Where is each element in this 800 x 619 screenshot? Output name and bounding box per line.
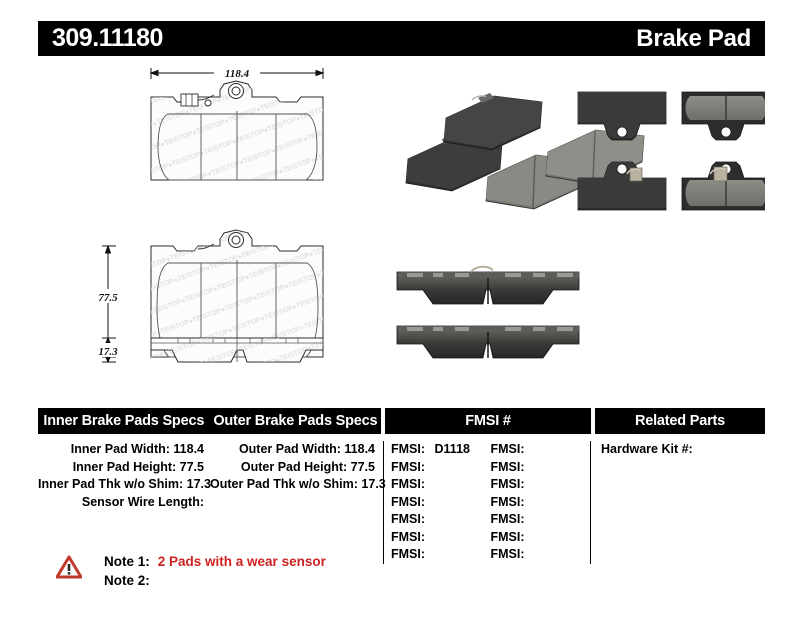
- fmsi-left-column: FMSI: D1118 FMSI: FMSI: FMSI: FMSI:: [391, 441, 491, 564]
- fmsi-row: FMSI:: [491, 476, 591, 494]
- product-photo-edge-views: [397, 267, 579, 358]
- fmsi-value: [525, 460, 531, 474]
- spec-value: 118.4: [173, 442, 204, 456]
- header-fmsi: FMSI #: [385, 408, 591, 434]
- fmsi-row: FMSI:: [391, 529, 491, 547]
- spec-label: Sensor Wire Length:: [82, 495, 204, 509]
- related-part-row: Hardware Kit #:: [601, 441, 761, 459]
- spec-row: Outer Pad Width: 118.4: [210, 441, 375, 459]
- spec-row: Inner Pad Width: 118.4: [38, 441, 204, 459]
- note-1-value: 2 Pads with a wear sensor: [150, 552, 326, 571]
- fmsi-label: FMSI:: [491, 547, 525, 561]
- spec-table-body: Inner Pad Width: 118.4 Inner Pad Height:…: [38, 441, 765, 564]
- related-parts-column: Hardware Kit #:: [590, 441, 761, 564]
- fmsi-label: FMSI:: [391, 477, 425, 491]
- note-1-label: Note 1:: [104, 552, 150, 571]
- fmsi-label: FMSI:: [391, 495, 425, 509]
- spec-row: Outer Pad Height: 77.5: [210, 459, 375, 477]
- spec-row: [210, 494, 375, 512]
- note-2-label: Note 2:: [104, 571, 150, 590]
- spec-label: Inner Pad Width:: [71, 442, 170, 456]
- header-inner-brake-pads-specs: Inner Brake Pads Specs: [38, 413, 210, 429]
- fmsi-label: FMSI:: [491, 530, 525, 544]
- part-number: 309.11180: [52, 24, 163, 53]
- fmsi-label: FMSI:: [491, 442, 525, 456]
- fmsi-value: [525, 512, 531, 526]
- spec-table-header-row: Inner Brake Pads Specs Outer Brake Pads …: [38, 408, 765, 434]
- fmsi-label: FMSI:: [491, 512, 525, 526]
- spec-row: Sensor Wire Length:: [38, 494, 204, 512]
- fmsi-value: [425, 460, 431, 474]
- fmsi-label: FMSI:: [491, 495, 525, 509]
- fmsi-row: FMSI:: [491, 546, 591, 564]
- spec-row: Outer Pad Thk w/o Shim: 17.3: [210, 476, 375, 494]
- related-part-label: Hardware Kit #:: [601, 442, 693, 456]
- fmsi-value: [525, 442, 531, 456]
- product-type: Brake Pad: [636, 25, 751, 53]
- fmsi-value: [425, 477, 431, 491]
- fmsi-label: FMSI:: [491, 477, 525, 491]
- fmsi-label: FMSI:: [391, 460, 425, 474]
- spec-row: Inner Pad Height: 77.5: [38, 459, 204, 477]
- spec-label: Outer Pad Height:: [241, 460, 347, 474]
- fmsi-value: [425, 512, 431, 526]
- fmsi-value: [525, 495, 531, 509]
- fmsi-row: FMSI:: [391, 494, 491, 512]
- svg-text:77.5: 77.5: [98, 292, 118, 304]
- fmsi-row: FMSI:: [491, 441, 591, 459]
- spec-table: Inner Brake Pads Specs Outer Brake Pads …: [38, 408, 765, 564]
- note-rows: Note 1: 2 Pads with a wear sensor Note 2…: [104, 552, 326, 590]
- fmsi-value: [525, 547, 531, 561]
- fmsi-label: FMSI:: [391, 530, 425, 544]
- fmsi-row: FMSI:: [491, 494, 591, 512]
- svg-text:17.3: 17.3: [98, 346, 118, 358]
- inner-specs-column: Inner Pad Width: 118.4 Inner Pad Height:…: [38, 441, 210, 564]
- fmsi-row: FMSI:: [391, 546, 491, 564]
- header-outer-brake-pads-specs: Outer Brake Pads Specs: [210, 413, 382, 429]
- spec-row: Inner Pad Thk w/o Shim: 17.3: [38, 476, 204, 494]
- fmsi-row: FMSI:: [391, 511, 491, 529]
- fmsi-label: FMSI:: [391, 547, 425, 561]
- spec-value: 77.5: [180, 460, 204, 474]
- fmsi-row: FMSI:: [491, 459, 591, 477]
- note-row-1: Note 1: 2 Pads with a wear sensor: [104, 552, 326, 571]
- fmsi-row: FMSI: D1118: [391, 441, 491, 459]
- fmsi-row: FMSI:: [391, 476, 491, 494]
- note-row-2: Note 2:: [104, 571, 326, 590]
- technical-drawing-svg: STOP●TECH 118.4: [38, 62, 765, 387]
- front-view-drawing: 118.4: [151, 66, 323, 180]
- spec-label: Outer Pad Thk w/o Shim:: [210, 477, 358, 491]
- header-inner-outer-group: Inner Brake Pads Specs Outer Brake Pads …: [38, 408, 381, 434]
- spec-value: 17.3: [187, 477, 211, 491]
- fmsi-label: FMSI:: [391, 512, 425, 526]
- title-bar: 309.11180 Brake Pad: [38, 21, 765, 56]
- spec-label: Inner Pad Thk w/o Shim:: [38, 477, 183, 491]
- fmsi-value: [425, 495, 431, 509]
- fmsi-value: [525, 530, 531, 544]
- fmsi-value: D1118: [429, 442, 470, 456]
- outer-specs-column: Outer Pad Width: 118.4 Outer Pad Height:…: [210, 441, 383, 564]
- fmsi-column: FMSI: D1118 FMSI: FMSI: FMSI: FMSI:: [383, 441, 590, 564]
- spec-label: Outer Pad Width:: [239, 442, 341, 456]
- fmsi-label: FMSI:: [491, 460, 525, 474]
- fmsi-value: [525, 477, 531, 491]
- spec-value: 77.5: [351, 460, 375, 474]
- spec-label: Inner Pad Height:: [73, 460, 176, 474]
- spec-value: 118.4: [344, 442, 375, 456]
- fmsi-row: FMSI:: [391, 459, 491, 477]
- svg-text:118.4: 118.4: [225, 68, 250, 80]
- drawing-area: STOP●TECH 118.4: [38, 62, 765, 387]
- notes-section: Note 1: 2 Pads with a wear sensor Note 2…: [56, 552, 326, 590]
- fmsi-value: [425, 547, 431, 561]
- fmsi-right-column: FMSI: FMSI: FMSI: FMSI: FMSI:: [491, 441, 591, 564]
- fmsi-label: FMSI:: [391, 442, 425, 456]
- fmsi-row: FMSI:: [491, 511, 591, 529]
- fmsi-row: FMSI:: [491, 529, 591, 547]
- related-part-value: [693, 442, 699, 456]
- fmsi-value: [425, 530, 431, 544]
- header-related-parts: Related Parts: [595, 408, 765, 434]
- warning-icon: [56, 555, 82, 579]
